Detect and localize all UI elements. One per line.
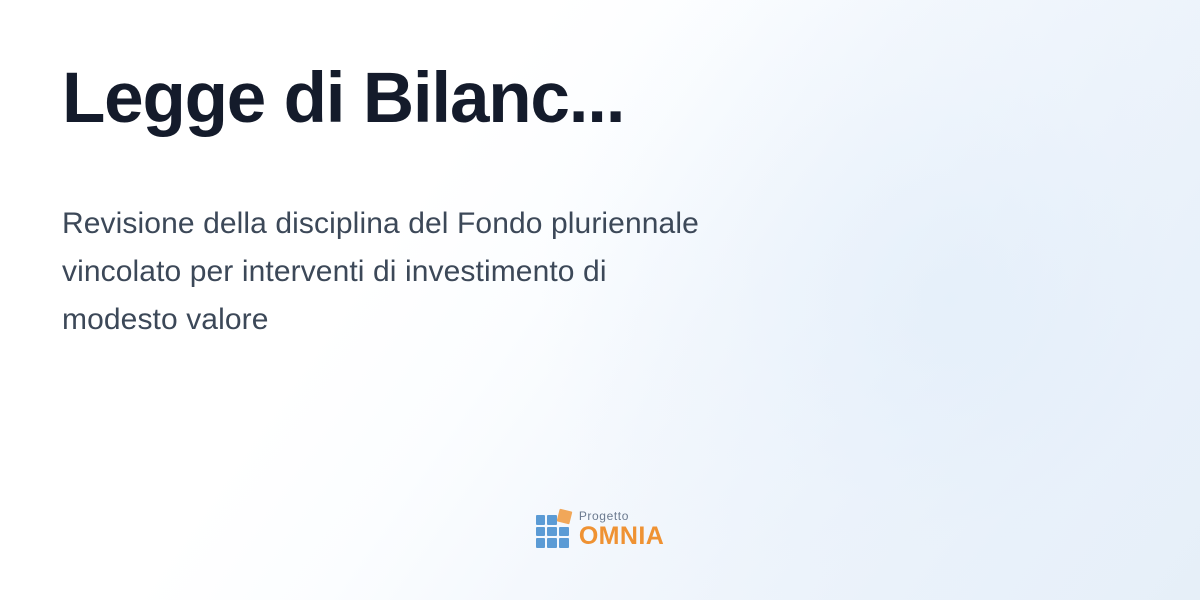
logo-cell (547, 538, 557, 548)
logo-cell (547, 527, 557, 537)
logo-kicker: Progetto (579, 510, 664, 522)
logo-name: OMNIA (579, 524, 664, 549)
logo-cell (559, 527, 569, 537)
logo-cell (536, 527, 546, 537)
logo-wordmark: Progetto OMNIA (579, 510, 664, 549)
logo-cell (536, 538, 546, 548)
logo-cell (547, 515, 557, 525)
logo-cell (559, 538, 569, 548)
share-card: Legge di Bilanc... Revisione della disci… (0, 0, 1200, 600)
progetto-omnia-logo: Progetto OMNIA (0, 506, 1200, 552)
page-title: Legge di Bilanc... (62, 62, 762, 137)
logo-accent-square-icon (556, 509, 572, 525)
grid-squares-icon (536, 510, 570, 548)
page-subtitle: Revisione della disciplina del Fondo plu… (62, 200, 702, 344)
logo-cell (536, 515, 546, 525)
